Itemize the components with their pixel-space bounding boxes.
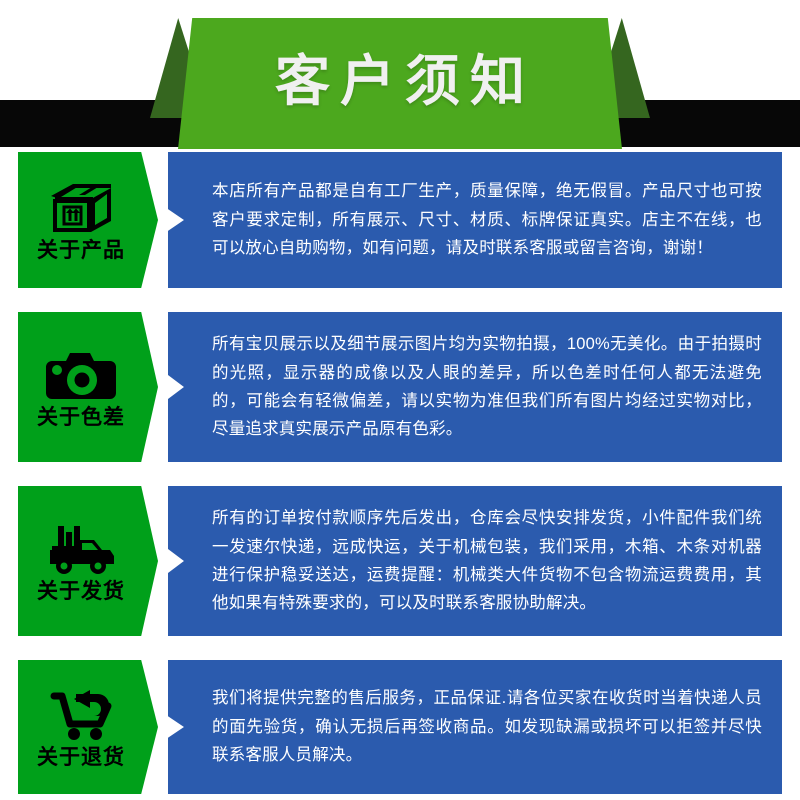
section-text-returns: 我们将提供完整的售后服务，正品保证.请各位买家在收货时当着快递人员的面先验货，确…	[212, 684, 762, 769]
section-label-shipping: 关于发货	[37, 581, 125, 602]
ribbon-banner: 客户须知	[178, 18, 622, 149]
section-text-color: 所有宝贝展示以及细节展示图片均为实物拍摄，100%无美化。由于拍摄时的光照，显示…	[212, 330, 762, 444]
section-panel-product: 本店所有产品都是自有工厂生产，质量保障，绝无假冒。产品尺寸也可按客户要求定制，所…	[168, 152, 782, 288]
notice-row-color: 关于色差 所有宝贝展示以及细节展示图片均为实物拍摄，100%无美化。由于拍摄时的…	[0, 312, 800, 462]
section-tile-color[interactable]: 关于色差	[18, 312, 158, 462]
section-panel-shipping: 所有的订单按付款顺序先后发出，仓库会尽快安排发货，小件配件我们统一发速尔快递，远…	[168, 486, 782, 636]
section-tile-shipping[interactable]: 关于发货	[18, 486, 158, 636]
package-box-icon	[44, 180, 118, 236]
page-header-banner: 客户须知	[0, 0, 800, 152]
section-tile-product[interactable]: 关于产品	[18, 152, 158, 288]
notice-sections: 关于产品 本店所有产品都是自有工厂生产，质量保障，绝无假冒。产品尺寸也可按客户要…	[0, 152, 800, 794]
section-text-shipping: 所有的订单按付款顺序先后发出，仓库会尽快安排发货，小件配件我们统一发速尔快递，远…	[212, 504, 762, 618]
section-panel-color: 所有宝贝展示以及细节展示图片均为实物拍摄，100%无美化。由于拍摄时的光照，显示…	[168, 312, 782, 462]
section-tile-returns[interactable]: 关于退货	[18, 660, 158, 794]
notice-row-returns: 关于退货 我们将提供完整的售后服务，正品保证.请各位买家在收货时当着快递人员的面…	[0, 660, 800, 794]
section-label-color: 关于色差	[37, 407, 125, 428]
forklift-truck-icon	[44, 521, 118, 577]
notice-row-shipping: 关于发货 所有的订单按付款顺序先后发出，仓库会尽快安排发货，小件配件我们统一发速…	[0, 486, 800, 636]
camera-icon	[44, 347, 118, 403]
return-cart-icon	[44, 687, 118, 743]
section-text-product: 本店所有产品都是自有工厂生产，质量保障，绝无假冒。产品尺寸也可按客户要求定制，所…	[212, 177, 762, 262]
section-panel-returns: 我们将提供完整的售后服务，正品保证.请各位买家在收货时当着快递人员的面先验货，确…	[168, 660, 782, 794]
notice-row-product: 关于产品 本店所有产品都是自有工厂生产，质量保障，绝无假冒。产品尺寸也可按客户要…	[0, 152, 800, 288]
section-label-product: 关于产品	[37, 240, 125, 261]
section-label-returns: 关于退货	[37, 747, 125, 768]
page-title: 客户须知	[265, 54, 535, 113]
